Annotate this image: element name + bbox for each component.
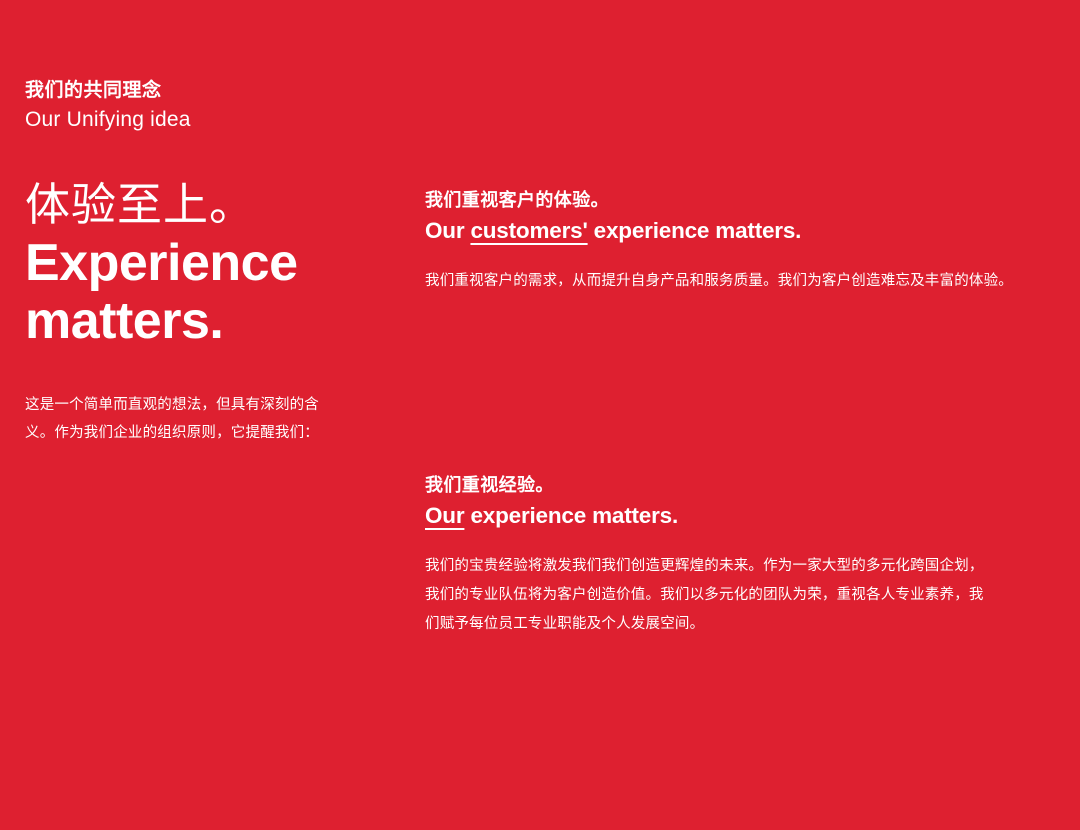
block-2-title-underlined: Our	[425, 503, 464, 528]
block-1-title-suffix: experience matters.	[588, 218, 802, 243]
block-1-title-prefix: Our	[425, 218, 470, 243]
block-2-body: 我们的宝贵经验将激发我们我们创造更辉煌的未来。作为一家大型的多元化跨国企划，我们…	[425, 552, 995, 639]
block-2-title-suffix: experience matters.	[464, 503, 678, 528]
eyebrow-chinese: 我们的共同理念	[25, 78, 385, 104]
content-block-experience: 我们重视经验。 Our experience matters. 我们的宝贵经验将…	[425, 473, 1065, 639]
slide-root: 我们的共同理念 Our Unifying idea 体验至上。 Experien…	[0, 0, 1080, 830]
hero-headline-english-line-1: Experience	[25, 235, 385, 292]
block-2-title-chinese: 我们重视经验。	[425, 473, 1065, 499]
block-1-body: 我们重视客户的需求，从而提升自身产品和服务质量。我们为客户创造难忘及丰富的体验。	[425, 267, 1057, 296]
eyebrow-group: 我们的共同理念 Our Unifying idea	[25, 78, 385, 134]
lead-paragraph: 这是一个简单而直观的想法，但具有深刻的含义。作为我们企业的组织原则，它提醒我们：	[25, 392, 343, 448]
block-1-title-chinese: 我们重视客户的体验。	[425, 188, 1065, 214]
block-1-title-underlined: customers'	[470, 218, 587, 243]
hero-headline-english: Experience matters.	[25, 235, 385, 349]
hero-headline-group: 体验至上。 Experience matters.	[25, 178, 385, 349]
right-column: 我们重视客户的体验。 Our customers' experience mat…	[425, 188, 1065, 639]
block-1-title-english: Our customers' experience matters.	[425, 216, 1065, 246]
block-2-title-english: Our experience matters.	[425, 501, 1065, 531]
hero-headline-chinese: 体验至上。	[25, 178, 385, 231]
eyebrow-english: Our Unifying idea	[25, 106, 385, 134]
hero-headline-english-line-2: matters.	[25, 293, 385, 350]
left-column: 我们的共同理念 Our Unifying idea 体验至上。 Experien…	[25, 78, 385, 350]
content-block-customers: 我们重视客户的体验。 Our customers' experience mat…	[425, 188, 1065, 296]
